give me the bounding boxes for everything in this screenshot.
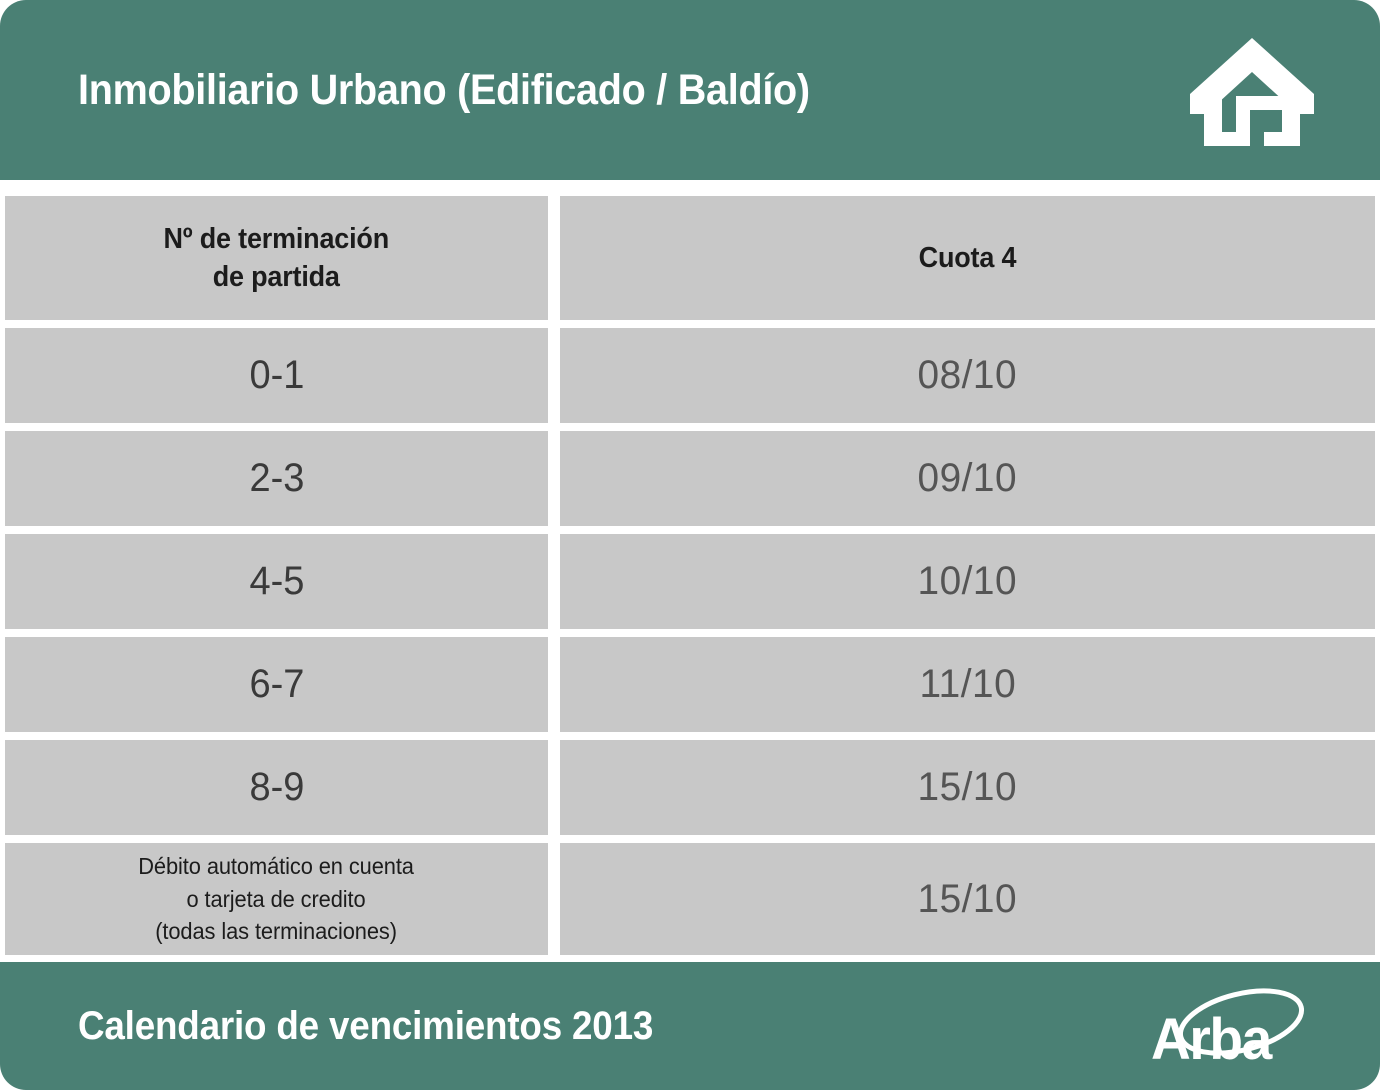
column-divider — [548, 740, 560, 835]
cell-terminacion: 6-7 — [5, 637, 548, 732]
cuota4-value: 09/10 — [918, 456, 1018, 501]
house-icon — [1186, 32, 1318, 150]
column-header-terminacion: Nº de terminación de partida — [5, 196, 548, 320]
column-header-cuota4-text: Cuota 4 — [919, 242, 1017, 275]
card-header: Inmobiliario Urbano (Edificado / Baldío) — [0, 0, 1380, 180]
card-footer: Calendario de vencimientos 2013 Arba — [0, 962, 1380, 1090]
cell-cuota4: 15/10 — [560, 843, 1375, 955]
cell-cuota4: 11/10 — [560, 637, 1375, 732]
column-header-line2: de partida — [164, 258, 389, 296]
column-header-line1: Nº de terminación — [164, 220, 389, 258]
column-divider — [548, 431, 560, 526]
table-header-row: Nº de terminación de partida Cuota 4 — [5, 196, 1375, 320]
page-title: Inmobiliario Urbano (Edificado / Baldío) — [78, 0, 810, 180]
cuota4-value: 15/10 — [918, 877, 1018, 922]
debito-note-line1: Débito automático en cuenta — [139, 850, 415, 883]
column-divider — [548, 328, 560, 423]
calendar-card: Inmobiliario Urbano (Edificado / Baldío)… — [0, 0, 1380, 1090]
footer-title: Calendario de vencimientos 2013 — [78, 962, 653, 1090]
terminacion-value: 0-1 — [249, 353, 304, 398]
terminacion-value: 8-9 — [249, 765, 304, 810]
terminacion-value: 4-5 — [249, 559, 304, 604]
terminacion-value: 2-3 — [249, 456, 304, 501]
column-divider — [548, 196, 560, 320]
debito-note-text: Débito automático en cuenta o tarjeta de… — [139, 850, 415, 948]
cuota4-value: 10/10 — [918, 559, 1018, 604]
debito-note-line3: (todas las terminaciones) — [139, 915, 415, 948]
cell-terminacion: 8-9 — [5, 740, 548, 835]
column-divider — [548, 637, 560, 732]
cell-cuota4: 09/10 — [560, 431, 1375, 526]
cell-cuota4: 10/10 — [560, 534, 1375, 629]
table-row: 4-5 10/10 — [5, 534, 1375, 629]
table-row: 2-3 09/10 — [5, 431, 1375, 526]
cuota4-value: 08/10 — [918, 353, 1018, 398]
table-row-debito-automatico: Débito automático en cuenta o tarjeta de… — [5, 843, 1375, 955]
cell-cuota4: 08/10 — [560, 328, 1375, 423]
column-divider — [548, 843, 560, 955]
terminacion-value: 6-7 — [249, 662, 304, 707]
column-divider — [548, 534, 560, 629]
cuota4-value: 11/10 — [919, 662, 1016, 707]
cell-terminacion: 4-5 — [5, 534, 548, 629]
column-header-cuota4: Cuota 4 — [560, 196, 1375, 320]
vencimientos-table: Nº de terminación de partida Cuota 4 0-1… — [5, 196, 1375, 963]
debito-note-line2: o tarjeta de credito — [139, 883, 415, 916]
cell-debito-note: Débito automático en cuenta o tarjeta de… — [5, 843, 548, 955]
table-row: 0-1 08/10 — [5, 328, 1375, 423]
cell-terminacion: 2-3 — [5, 431, 548, 526]
table-row: 8-9 15/10 — [5, 740, 1375, 835]
cell-terminacion: 0-1 — [5, 328, 548, 423]
cell-cuota4: 15/10 — [560, 740, 1375, 835]
column-header-terminacion-text: Nº de terminación de partida — [164, 220, 389, 297]
cuota4-value: 15/10 — [918, 765, 1018, 810]
table-row: 6-7 11/10 — [5, 637, 1375, 732]
arba-wordmark: Arba — [1151, 1006, 1271, 1073]
arba-logo: Arba — [1145, 980, 1325, 1076]
